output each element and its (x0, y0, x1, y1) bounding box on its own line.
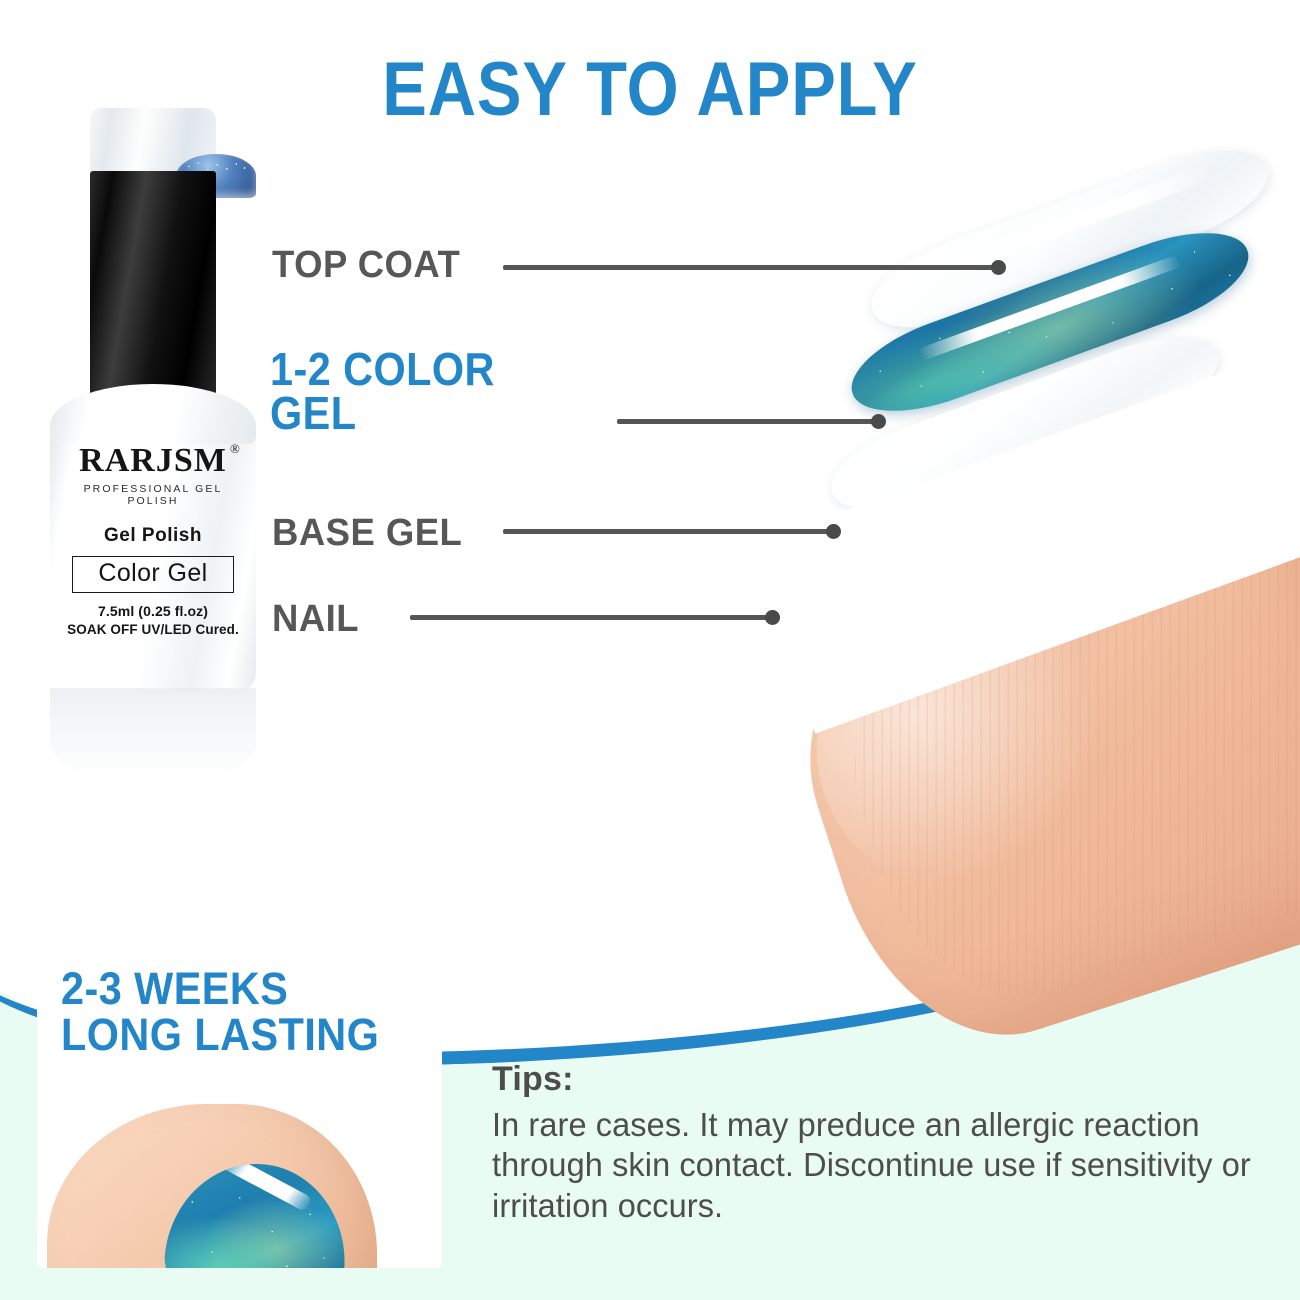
infographic-canvas: EASY TO APPLY RARJSM® PROFESSIONAL GEL P… (0, 0, 1300, 1300)
leader-line-color-gel (617, 419, 879, 424)
longevity-card-title: 2-3 WEEKS LONG LASTING (61, 966, 379, 1058)
registered-trademark-icon: ® (230, 442, 241, 455)
callout-color-gel-line2: GEL (270, 392, 495, 436)
leader-dot-icon (871, 414, 886, 429)
callout-label-base-gel: BASE GEL (272, 512, 462, 555)
brand-text: RARJSM (79, 442, 227, 479)
manicure-photo (37, 1092, 442, 1268)
brand-name: RARJSM® (79, 444, 227, 478)
photo-finger (47, 1104, 377, 1268)
longevity-line1: 2-3 WEEKS (61, 966, 379, 1012)
leader-line-top-coat (503, 265, 999, 270)
product-bottle-image: RARJSM® PROFESSIONAL GEL POLISH Gel Poli… (28, 108, 278, 688)
leader-line-base-gel (503, 529, 834, 534)
callout-label-nail: NAIL (272, 598, 359, 641)
longevity-card: 2-3 WEEKS LONG LASTING (37, 938, 442, 1268)
bottle-label: RARJSM® PROFESSIONAL GEL POLISH Gel Poli… (62, 444, 244, 637)
leader-dot-icon (765, 610, 780, 625)
tips-heading: Tips: (492, 1060, 1272, 1099)
tips-body-text: In rare cases. It may preduce an allergi… (492, 1105, 1260, 1226)
tips-section: Tips: In rare cases. It may preduce an a… (492, 1060, 1272, 1226)
leader-line-nail (410, 615, 773, 620)
cure-note-label: SOAK OFF UV/LED Cured. (62, 622, 244, 637)
brand-tagline: PROFESSIONAL GEL POLISH (62, 483, 244, 507)
volume-label: 7.5ml (0.25 fl.oz) (62, 603, 244, 619)
bottle-cap-black (90, 171, 216, 407)
product-line-label: Gel Polish (62, 525, 244, 547)
variant-label: Color Gel (72, 556, 234, 593)
longevity-line2: LONG LASTING (61, 1012, 379, 1058)
bottle-reflection (50, 688, 256, 780)
photo-painted-nail (160, 1155, 355, 1268)
callout-label-color-gel: 1-2 COLOR GEL (270, 348, 495, 435)
callout-label-top-coat: TOP COAT (272, 244, 460, 287)
callout-color-gel-line1: 1-2 COLOR (270, 348, 495, 392)
leader-dot-icon (826, 524, 841, 539)
leader-dot-icon (991, 260, 1006, 275)
